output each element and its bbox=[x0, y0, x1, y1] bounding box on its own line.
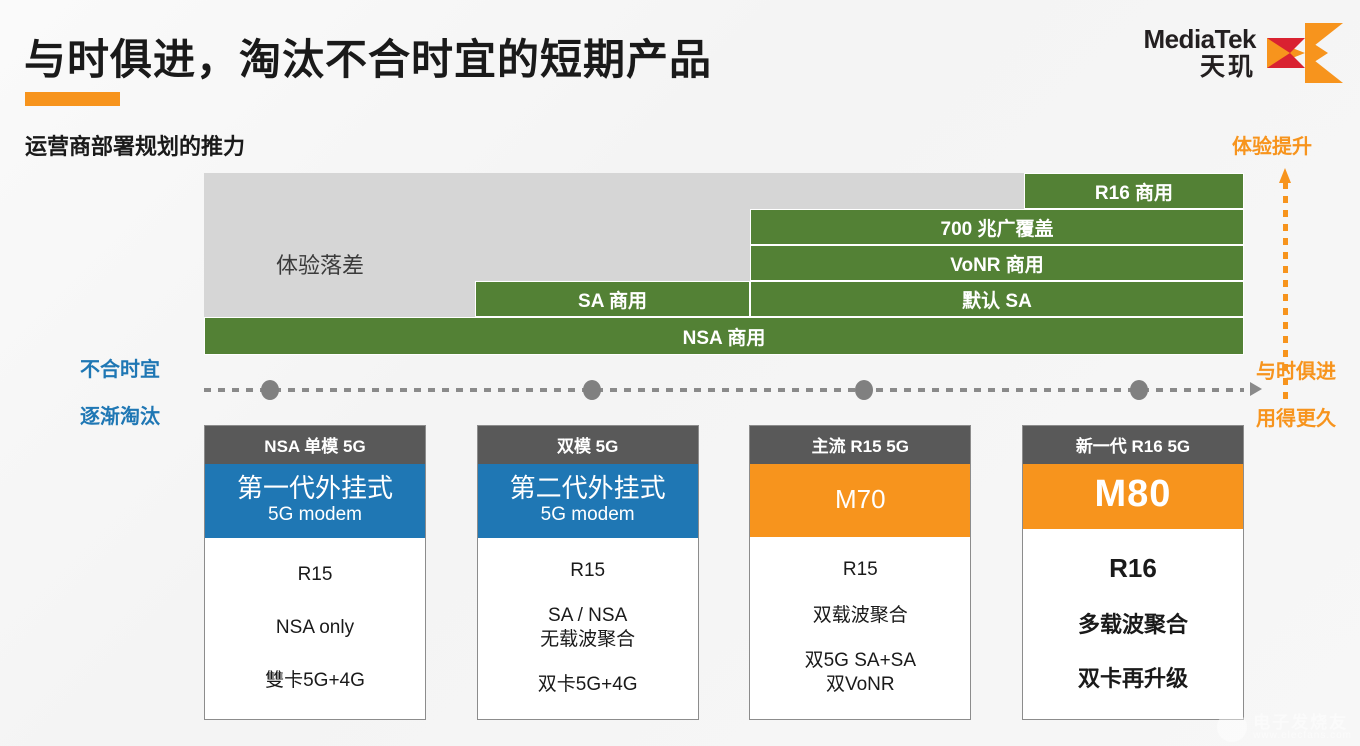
product-card-list: NSA 单模 5G 第一代外挂式 5G modem R15 NSA only 雙… bbox=[204, 425, 1244, 720]
card-row: R15 bbox=[843, 558, 878, 581]
timeline-dot bbox=[1130, 380, 1148, 400]
logo-name-en: MediaTek bbox=[1143, 26, 1256, 53]
watermark-url: www.elecfans.com bbox=[1253, 731, 1352, 741]
arrow-shaft bbox=[1283, 182, 1288, 400]
bar-r16-commercial: R16 商用 bbox=[1024, 173, 1244, 209]
card-body: R16 多载波聚合 双卡再升级 bbox=[1023, 529, 1243, 719]
card-chip-main: 第一代外挂式 bbox=[209, 473, 421, 504]
timeline-dot bbox=[583, 380, 601, 400]
product-card-nsa-single-mode[interactable]: NSA 单模 5G 第一代外挂式 5G modem R15 NSA only 雙… bbox=[204, 425, 426, 720]
watermark-text: 电子发烧友 www.elecfans.com bbox=[1253, 714, 1352, 741]
card-body: R15 NSA only 雙卡5G+4G bbox=[205, 538, 425, 719]
card-chip-sub: 5G modem bbox=[209, 504, 421, 526]
arrow-head bbox=[1279, 168, 1291, 183]
card-row: SA / NSA无载波聚合 bbox=[540, 604, 635, 650]
card-row: 双卡5G+4G bbox=[538, 673, 638, 696]
bar-label: NSA 商用 bbox=[683, 323, 766, 350]
card-row: 双卡再升级 bbox=[1078, 666, 1188, 693]
card-chip: M80 bbox=[1023, 464, 1243, 529]
card-body: R15 SA / NSA无载波聚合 双卡5G+4G bbox=[478, 538, 698, 719]
card-header: 主流 R15 5G bbox=[750, 426, 970, 464]
bar-vonr-commercial: VoNR 商用 bbox=[750, 245, 1244, 281]
left-caption-line-1: 不合时宜 bbox=[80, 353, 160, 382]
mediatek-logo: MediaTek 天玑 bbox=[1143, 22, 1344, 84]
right-caption-line-1: 与时俱进 bbox=[1256, 355, 1336, 384]
logo-name-cn: 天玑 bbox=[1143, 54, 1256, 80]
right-caption-line-2: 用得更久 bbox=[1256, 402, 1336, 431]
timeline-dot bbox=[855, 380, 873, 400]
horizontal-timeline bbox=[204, 380, 1262, 400]
mediatek-diamond-icon bbox=[1266, 22, 1344, 84]
timeline-dotted-line bbox=[204, 388, 1244, 392]
card-row: 双5G SA+SA双VoNR bbox=[805, 649, 916, 695]
slide-canvas: 与时俱进，淘汰不合时宜的短期产品 运营商部署规划的推力 MediaTek 天玑 … bbox=[0, 0, 1360, 746]
watermark-name: 电子发烧友 bbox=[1253, 714, 1352, 731]
title-underline bbox=[25, 92, 120, 106]
card-header: 新一代 R16 5G bbox=[1023, 426, 1243, 464]
bar-label: 700 兆广覆盖 bbox=[941, 214, 1054, 241]
card-chip-main: M70 bbox=[754, 484, 966, 515]
card-row: R16 bbox=[1109, 553, 1157, 585]
timeline-arrow-icon bbox=[1250, 382, 1262, 396]
page-title: 与时俱进，淘汰不合时宜的短期产品 bbox=[24, 26, 712, 87]
card-header: 双模 5G bbox=[478, 426, 698, 464]
card-row: NSA only bbox=[276, 616, 354, 639]
card-body: R15 双载波聚合 双5G SA+SA双VoNR bbox=[750, 537, 970, 719]
timeline-dot bbox=[261, 380, 279, 400]
right-caption-top: 体验提升 bbox=[1232, 130, 1312, 159]
card-row: R15 bbox=[570, 559, 605, 582]
bar-default-sa: 默认 SA bbox=[750, 281, 1244, 317]
card-chip-sub: 5G modem bbox=[482, 504, 694, 526]
card-chip-main: 第二代外挂式 bbox=[482, 473, 694, 504]
card-chip: 第一代外挂式 5G modem bbox=[205, 464, 425, 538]
bar-experience-gap-label: 体验落差 bbox=[276, 248, 364, 280]
bar-nsa-commercial: NSA 商用 bbox=[204, 317, 1244, 355]
card-row: R15 bbox=[298, 563, 333, 586]
page-subtitle: 运营商部署规划的推力 bbox=[25, 129, 245, 161]
card-row: 多载波聚合 bbox=[1078, 612, 1188, 639]
left-caption-line-2: 逐渐淘汰 bbox=[80, 400, 160, 429]
product-card-m80[interactable]: 新一代 R16 5G M80 R16 多载波聚合 双卡再升级 bbox=[1022, 425, 1244, 720]
card-row: 雙卡5G+4G bbox=[265, 669, 365, 692]
bar-700mhz-coverage: 700 兆广覆盖 bbox=[750, 209, 1244, 245]
logo-text: MediaTek 天玑 bbox=[1143, 26, 1256, 80]
bar-sa-commercial: SA 商用 bbox=[475, 281, 750, 317]
card-chip: 第二代外挂式 5G modem bbox=[478, 464, 698, 538]
product-card-dual-mode[interactable]: 双模 5G 第二代外挂式 5G modem R15 SA / NSA无载波聚合 … bbox=[477, 425, 699, 720]
bar-label: R16 商用 bbox=[1095, 178, 1173, 205]
watermark-circle-icon bbox=[1217, 712, 1247, 742]
card-row: 双载波聚合 bbox=[813, 604, 908, 627]
card-chip: M70 bbox=[750, 464, 970, 537]
card-header: NSA 单模 5G bbox=[205, 426, 425, 464]
site-watermark: 电子发烧友 www.elecfans.com bbox=[1217, 712, 1352, 742]
bar-label: SA 商用 bbox=[578, 286, 647, 313]
bar-label: 默认 SA bbox=[962, 286, 1032, 313]
bar-label: VoNR 商用 bbox=[950, 250, 1044, 277]
deployment-timeline-bars: 体验落差 R16 商用 700 兆广覆盖 VoNR 商用 默认 SA SA 商用… bbox=[204, 173, 1244, 355]
product-card-m70[interactable]: 主流 R15 5G M70 R15 双载波聚合 双5G SA+SA双VoNR bbox=[749, 425, 971, 720]
card-chip-main: M80 bbox=[1027, 472, 1239, 517]
experience-up-arrow-icon bbox=[1279, 168, 1291, 400]
